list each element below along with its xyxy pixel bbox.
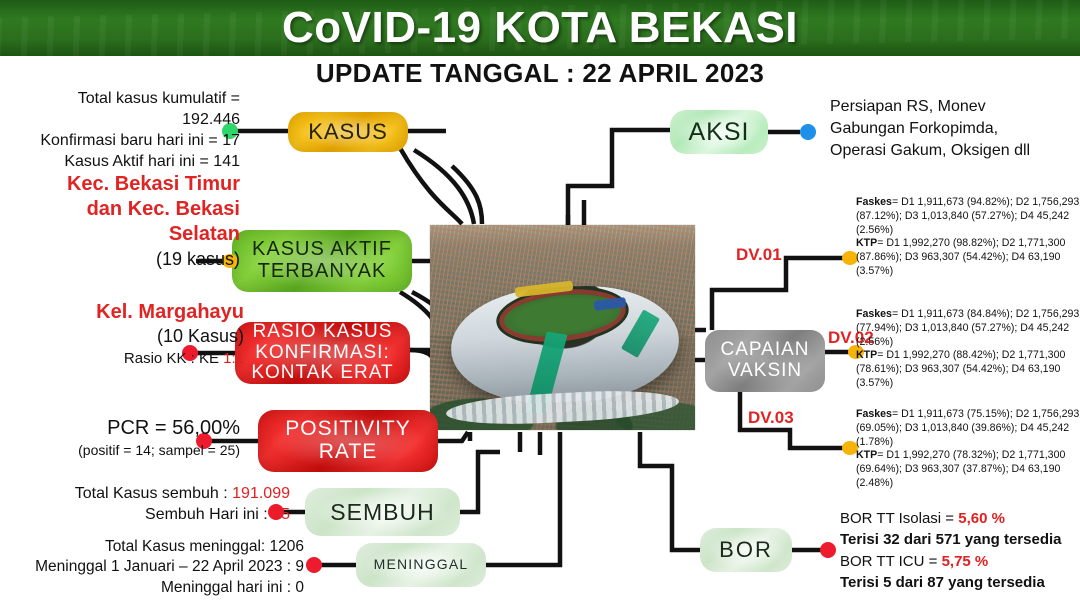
dv02-ktp-line: KTP= D1 1,992,270 (88.42%); D2 1,771,300…	[856, 349, 1080, 390]
sembuh-total-label: Total Kasus sembuh :	[75, 485, 232, 502]
dv03-faskes-label: Faskes	[856, 408, 892, 420]
node-bor-label: BOR	[713, 538, 779, 562]
meninggal-line-2: Meninggal 1 Januari – 22 April 2023 : 9	[14, 557, 304, 577]
text-meninggal: Total Kasus meninggal: 1206 Meninggal 1 …	[14, 537, 304, 598]
rasio-kk-ke-value: 1:1	[223, 350, 244, 367]
kasus-line-3: Konfirmasi baru hari ini = 17	[10, 130, 240, 151]
node-rasio-label: RASIO KASUS KONFIRMASI: KONTAK ERAT	[235, 322, 410, 384]
bor-icu-detail: Terisi 5 dari 87 yang tersedia	[840, 572, 1075, 593]
node-bor[interactable]: BOR	[700, 528, 792, 572]
node-sembuh[interactable]: SEMBUH	[305, 488, 460, 536]
node-kasus[interactable]: KASUS	[288, 112, 408, 152]
node-aksi[interactable]: AKSI	[670, 110, 768, 154]
bullet-dot-aksi	[800, 124, 816, 140]
dv01-ktp-label: KTP	[856, 237, 877, 249]
node-sembuh-label: SEMBUH	[324, 500, 440, 525]
sembuh-today-label: Sembuh Hari ini :	[145, 506, 272, 523]
sembuh-today-value: 15	[272, 506, 290, 523]
kasus-aktif-line-1: Kec. Bekasi Timur	[10, 172, 240, 197]
node-capaian-vaksin[interactable]: CAPAIAN VAKSIN	[705, 330, 825, 392]
text-positivity-rate: PCR = 56,00% (positif = 14; sampel = 25)	[20, 415, 240, 460]
bor-icu-value: 5,75 %	[942, 553, 989, 570]
meninggal-line-1: Total Kasus meninggal: 1206	[14, 537, 304, 557]
bor-isolasi-value: 5,60 %	[958, 510, 1005, 527]
label-dv01: DV.01	[736, 245, 782, 265]
dv03-ktp-value: = D1 1,992,270 (78.32%); D2 1,771,300 (6…	[856, 449, 1065, 489]
dv03-faskes-line: Faskes= D1 1,911,673 (75.15%); D2 1,756,…	[856, 408, 1080, 449]
kasus-aktif-line-2: dan Kec. Bekasi	[10, 197, 240, 222]
text-sembuh: Total Kasus sembuh : 191.099 Sembuh Hari…	[20, 483, 290, 525]
dv02-faskes-line: Faskes= D1 1,911,673 (84.84%); D2 1,756,…	[856, 308, 1080, 349]
sembuh-total-value: 191.099	[232, 485, 290, 502]
meninggal-line-3: Meninggal hari ini : 0	[14, 578, 304, 598]
dv02-ktp-value: = D1 1,992,270 (88.42%); D2 1,771,300 (7…	[856, 349, 1065, 389]
bor-isolasi-line: BOR TT Isolasi = 5,60 %	[840, 508, 1075, 529]
dv01-ktp-value: = D1 1,992,270 (98.82%); D2 1,771,300 (8…	[856, 237, 1065, 277]
node-positivity-rate[interactable]: POSITIVITY RATE	[258, 410, 438, 472]
node-capaian-vaksin-label: CAPAIAN VAKSIN	[705, 340, 825, 381]
node-kasus-aktif-label: KASUS AKTIF TERBANYAK	[232, 239, 412, 282]
bor-isolasi-label: BOR TT Isolasi =	[840, 510, 958, 527]
kasus-line-4: Kasus Aktif hari ini = 141	[10, 151, 240, 172]
rasio-kk-ke-label: Rasio KK : KE	[124, 350, 223, 367]
aksi-line-2: Gabungan Forkopimda,	[830, 118, 1070, 140]
rasio-line-1: Kel. Margahayu	[6, 300, 244, 325]
kasus-aktif-line-3: Selatan	[10, 222, 240, 247]
bor-icu-line: BOR TT ICU = 5,75 %	[840, 551, 1075, 572]
dv03-ktp-line: KTP= D1 1,992,270 (78.32%); D2 1,771,300…	[856, 449, 1080, 490]
node-aksi-label: AKSI	[683, 119, 756, 146]
kasus-line-2: 192.446	[10, 109, 240, 130]
text-bor: BOR TT Isolasi = 5,60 % Terisi 32 dari 5…	[840, 508, 1075, 593]
sembuh-line-1: Total Kasus sembuh : 191.099	[20, 483, 290, 504]
text-kasus-aktif-terbanyak: Kec. Bekasi Timur dan Kec. Bekasi Selata…	[10, 172, 240, 272]
node-meninggal-label: MENINGGAL	[368, 557, 475, 572]
text-kasus-stats: Total kasus kumulatif = 192.446 Konfirma…	[10, 88, 240, 172]
dv03-ktp-label: KTP	[856, 449, 877, 461]
bullet-dot-bor	[820, 542, 836, 558]
kasus-line-1: Total kasus kumulatif =	[10, 88, 240, 109]
dv01-faskes-label: Faskes	[856, 196, 892, 208]
node-positivity-label: POSITIVITY RATE	[258, 418, 438, 463]
text-rasio-kasus: Kel. Margahayu (10 Kasus) Rasio KK : KE …	[6, 300, 244, 368]
center-photo-stadium	[430, 225, 695, 430]
text-aksi: Persiapan RS, Monev Gabungan Forkopimda,…	[830, 96, 1070, 162]
dv02-faskes-label: Faskes	[856, 308, 892, 320]
node-kasus-label: KASUS	[302, 120, 394, 144]
bor-icu-label: BOR TT ICU =	[840, 553, 942, 570]
pcr-line-1: PCR = 56,00%	[20, 415, 240, 441]
infographic-canvas: CoVID-19 KOTA BEKASI UPDATE TANGGAL : 22…	[0, 0, 1080, 605]
label-dv03: DV.03	[748, 408, 794, 428]
sembuh-line-2: Sembuh Hari ini : 15	[20, 504, 290, 525]
dv01-faskes-line: Faskes= D1 1,911,673 (94.82%); D2 1,756,…	[856, 196, 1080, 237]
text-vaksin-dv01: Faskes= D1 1,911,673 (94.82%); D2 1,756,…	[856, 196, 1080, 279]
rasio-line-3: Rasio KK : KE 1:1	[6, 349, 244, 369]
kasus-aktif-line-4: (19 kasus)	[10, 248, 240, 272]
pcr-line-2: (positif = 14; sampel = 25)	[20, 441, 240, 459]
text-vaksin-dv02: Faskes= D1 1,911,673 (84.84%); D2 1,756,…	[856, 308, 1080, 391]
aksi-line-3: Operasi Gakum, Oksigen dll	[830, 140, 1070, 162]
bullet-dot-meninggal	[306, 557, 322, 573]
node-meninggal[interactable]: MENINGGAL	[356, 543, 486, 587]
rasio-line-2: (10 Kasus)	[6, 325, 244, 349]
bor-isolasi-detail: Terisi 32 dari 571 yang tersedia	[840, 529, 1075, 550]
node-kasus-aktif-terbanyak[interactable]: KASUS AKTIF TERBANYAK	[232, 230, 412, 292]
dv02-ktp-label: KTP	[856, 349, 877, 361]
text-vaksin-dv03: Faskes= D1 1,911,673 (75.15%); D2 1,756,…	[856, 408, 1080, 491]
dv01-ktp-line: KTP= D1 1,992,270 (98.82%); D2 1,771,300…	[856, 237, 1080, 278]
node-rasio-kasus[interactable]: RASIO KASUS KONFIRMASI: KONTAK ERAT	[235, 322, 410, 384]
aksi-line-1: Persiapan RS, Monev	[830, 96, 1070, 118]
